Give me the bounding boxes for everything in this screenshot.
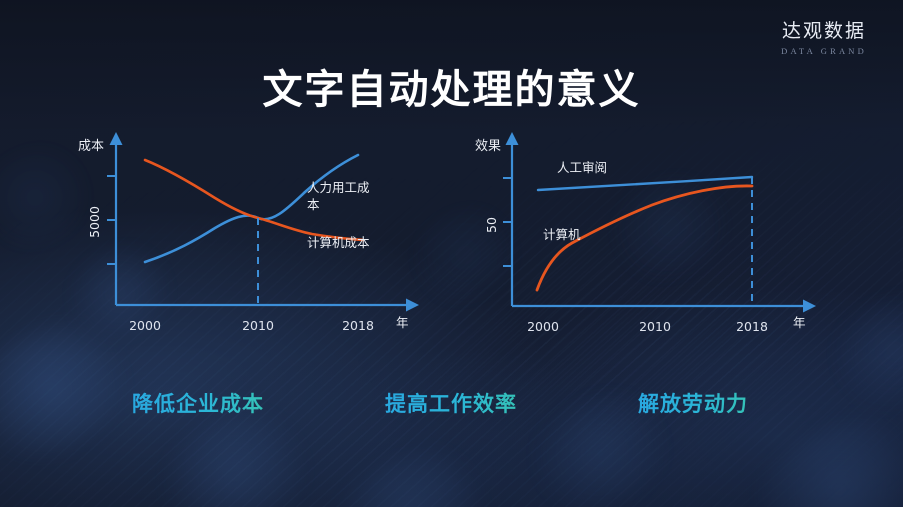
cost-chart-label-computer: 计算机成本: [307, 235, 370, 250]
cost-chart-x-tick-2018: 2018: [342, 318, 374, 333]
caption-improve-efficiency: 提高工作效率: [385, 388, 517, 418]
cost-chart-x-tick-2010: 2010: [242, 318, 274, 333]
cost-chart-label-labor: 人力用工成本: [307, 180, 370, 212]
caption-free-labor: 解放劳动力: [638, 388, 748, 418]
effect-chart-y-tick-label: 50: [484, 217, 499, 233]
slide-canvas: 达观数据 DATA GRAND 文字自动处理的意义: [0, 0, 903, 507]
effect-chart-x-tick-2018: 2018: [736, 319, 768, 334]
effect-chart-y-axis-label: 效果: [475, 139, 501, 154]
cost-chart-y-axis-label: 成本: [78, 139, 104, 154]
caption-reduce-cost: 降低企业成本: [132, 388, 264, 418]
charts-layer: 成本 年 5000 2000 2010 2018 人力用工成本 计算机成本 效果: [0, 0, 903, 507]
effect-chart-x-tick-2010: 2010: [639, 319, 671, 334]
cost-chart-y-tick-label: 5000: [87, 206, 102, 238]
effect-chart: 效果 年 50 2000 2010 2018 人工审阅 计算机: [475, 139, 806, 334]
effect-chart-x-tick-2000: 2000: [527, 319, 559, 334]
cost-chart: 成本 年 5000 2000 2010 2018 人力用工成本 计算机成本: [78, 139, 409, 333]
effect-chart-label-computer: 计算机: [543, 227, 581, 242]
caption-row: 降低企业成本 提高工作效率 解放劳动力: [0, 388, 903, 422]
cost-chart-x-tick-2000: 2000: [129, 318, 161, 333]
effect-chart-label-manual: 人工审阅: [557, 160, 607, 175]
cost-chart-x-axis-label: 年: [396, 315, 409, 330]
effect-chart-x-axis-label: 年: [793, 315, 806, 330]
